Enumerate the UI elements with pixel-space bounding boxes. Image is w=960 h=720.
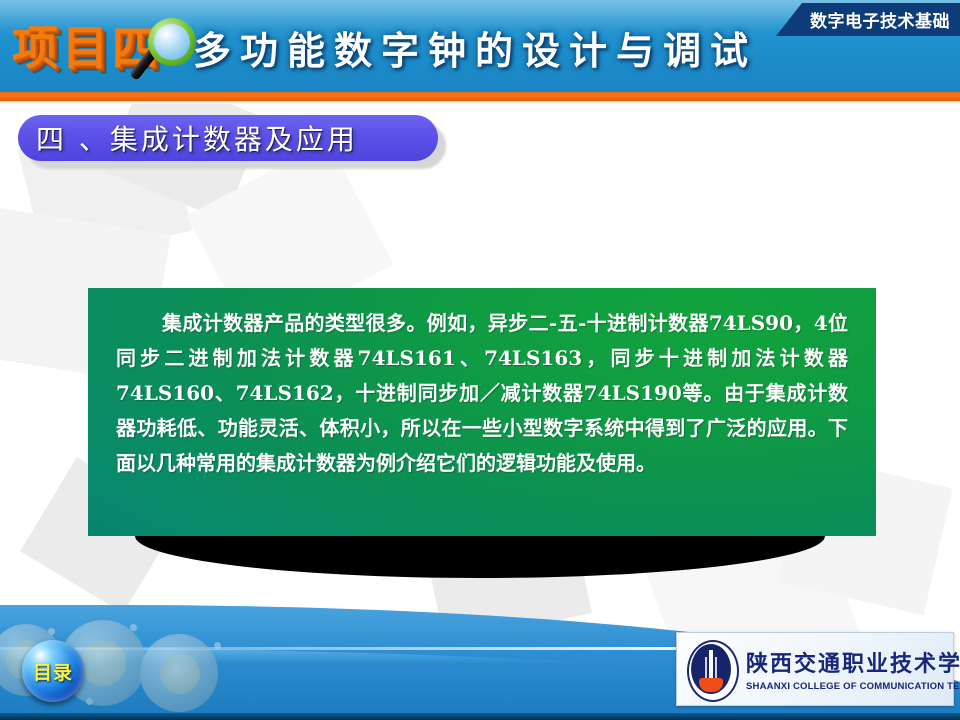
course-banner-label: 数字电子技术基础 — [810, 7, 950, 32]
section-title-pill[interactable]: 四 、集成计数器及应用 — [18, 115, 438, 161]
section-title-label: 四 、集成计数器及应用 — [36, 118, 358, 158]
page-title-text: 多功能数字钟的设计与调试 — [193, 20, 757, 75]
project-badge: 项目四 — [8, 6, 208, 88]
table-of-contents-label: 目录 — [33, 658, 73, 685]
college-name-cn: 陕西交通职业技术学院 — [746, 646, 960, 678]
footer-bottom-line — [0, 713, 960, 720]
content-paragraph: 集成计数器产品的类型很多。例如，异步二-五-十进制计数器74LS90，4位同步二… — [116, 306, 848, 481]
header-divider — [0, 92, 960, 101]
slide-canvas: 项目四 多功能数字钟的设计与调试 数字电子技术基础 四 、集成计数器及应用 集成… — [0, 0, 960, 720]
table-of-contents-button[interactable]: 目录 — [22, 640, 84, 702]
college-crest-icon — [681, 638, 741, 700]
course-banner: 数字电子技术基础 — [776, 3, 960, 36]
content-box-shadow — [135, 536, 825, 578]
header-divider-highlight — [0, 101, 960, 104]
content-box: 集成计数器产品的类型很多。例如，异步二-五-十进制计数器74LS90，4位同步二… — [88, 288, 876, 536]
college-logo: 陕西交通职业技术学院 SHAANXI COLLEGE OF COMMUNICAT… — [676, 632, 954, 706]
college-name-en: SHAANXI COLLEGE OF COMMUNICATION TECHNOL… — [746, 681, 960, 692]
page-title: 多功能数字钟的设计与调试 — [215, 14, 735, 80]
